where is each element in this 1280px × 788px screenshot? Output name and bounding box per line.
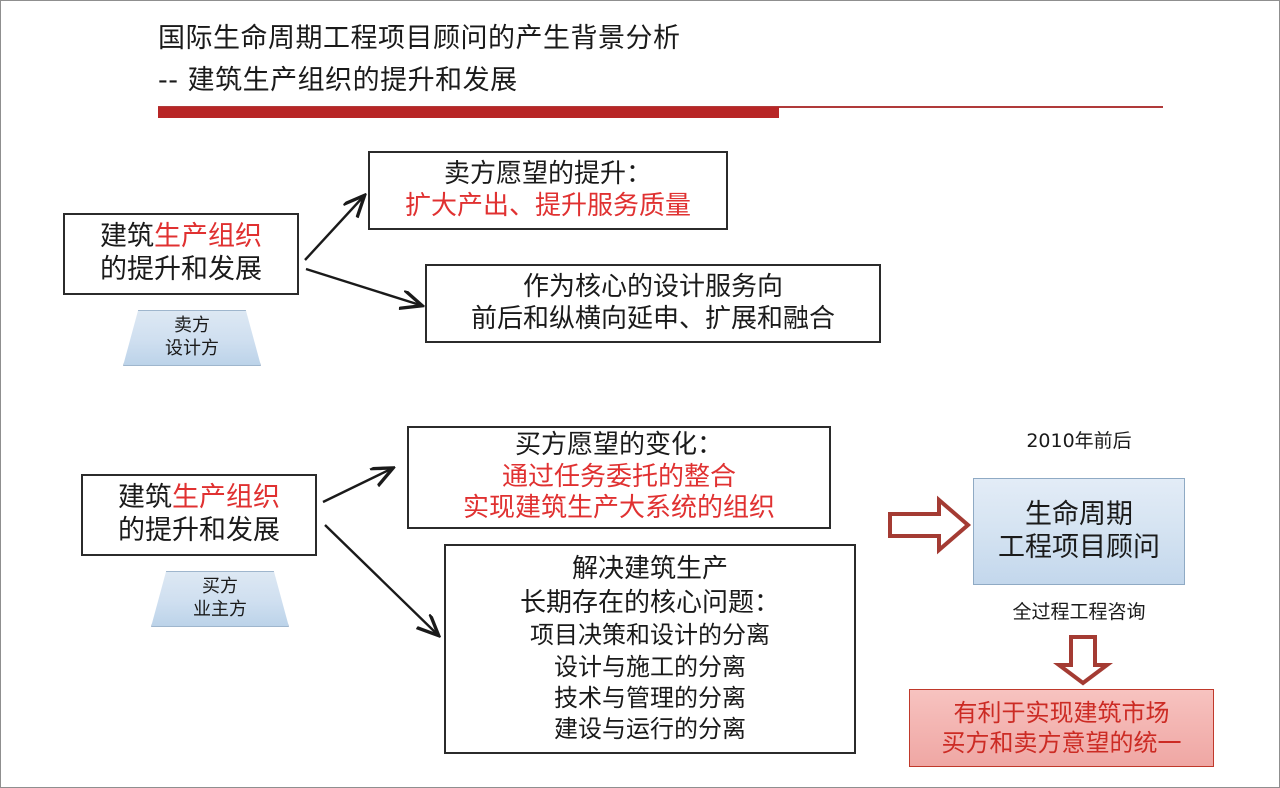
whole-process-consulting-caption: 全过程工程咨询 — [953, 597, 1205, 624]
seller-org-line2: 的提升和发展 — [100, 254, 262, 287]
arrow-buyer-to-wish — [323, 469, 391, 502]
conclusion-line1: 有利于实现建筑市场 — [954, 698, 1170, 728]
buyer-role-line1: 买方 — [202, 576, 238, 599]
seller-role-line2: 设计方 — [165, 338, 219, 361]
buyer-role-line2: 业主方 — [193, 599, 247, 622]
seller-role-line1: 卖方 — [174, 315, 210, 338]
title-rule-thick — [158, 107, 779, 118]
buyer-wish-box[interactable]: 买方愿望的变化： 通过任务委托的整合 实现建筑生产大系统的组织 — [407, 426, 831, 529]
seller-org-highlight: 生产组织 — [154, 221, 262, 252]
buyer-wish-line3: 实现建筑生产大系统的组织 — [463, 493, 775, 525]
core-problem-item-3: 建设与运行的分离 — [554, 714, 746, 745]
buyer-role-tag[interactable]: 买方 业主方 — [151, 571, 289, 627]
arrow-buyer-to-problem — [325, 525, 437, 634]
seller-role-tag[interactable]: 卖方 设计方 — [123, 310, 261, 366]
seller-wish-line2: 扩大产出、提升服务质量 — [405, 191, 691, 223]
buyer-wish-line1: 买方愿望的变化： — [515, 430, 723, 462]
core-design-line1: 作为核心的设计服务向 — [523, 272, 783, 304]
core-problem-item-1: 设计与施工的分离 — [554, 652, 746, 683]
lifecycle-line1: 生命周期 — [1025, 499, 1133, 532]
core-problem-item-2: 技术与管理的分离 — [554, 683, 746, 714]
seller-wish-line1: 卖方愿望的提升： — [444, 159, 652, 191]
buyer-org-line2: 的提升和发展 — [118, 515, 280, 548]
buyer-org-line1: 建筑生产组织 — [118, 482, 280, 515]
core-problem-line2: 长期存在的核心问题： — [520, 587, 780, 621]
core-problem-item-0: 项目决策和设计的分离 — [530, 620, 770, 651]
year-caption: 2010年前后 — [973, 426, 1185, 453]
buyer-wish-line2: 通过任务委托的整合 — [502, 462, 736, 494]
core-problem-box[interactable]: 解决建筑生产 长期存在的核心问题： 项目决策和设计的分离 设计与施工的分离 技术… — [444, 544, 856, 754]
arrow-seller-to-wish — [305, 197, 363, 260]
slide-canvas: 国际生命周期工程项目顾问的产生背景分析 -- 建筑生产组织的提升和发展 建筑生产… — [0, 0, 1280, 788]
lifecycle-consultant-box[interactable]: 生命周期 工程项目顾问 — [973, 478, 1185, 585]
buyer-organization-box[interactable]: 建筑生产组织 的提升和发展 — [81, 474, 317, 556]
buyer-org-prefix: 建筑 — [118, 482, 172, 513]
conclusion-box[interactable]: 有利于实现建筑市场 买方和卖方意望的统一 — [909, 689, 1214, 767]
core-design-line2: 前后和纵横向延申、扩展和融合 — [471, 304, 835, 336]
seller-organization-box[interactable]: 建筑生产组织 的提升和发展 — [63, 213, 299, 295]
arrow-seller-to-core-design — [306, 269, 420, 305]
page-title-line2: -- 建筑生产组织的提升和发展 — [158, 61, 518, 101]
seller-org-line1: 建筑生产组织 — [100, 221, 262, 254]
seller-org-prefix: 建筑 — [100, 221, 154, 252]
block-arrow-down-icon — [1059, 637, 1107, 683]
block-arrow-right-icon — [890, 500, 968, 550]
conclusion-line2: 买方和卖方意望的统一 — [942, 728, 1182, 758]
lifecycle-line2: 工程项目顾问 — [998, 532, 1160, 565]
core-design-service-box[interactable]: 作为核心的设计服务向 前后和纵横向延申、扩展和融合 — [425, 264, 881, 343]
seller-wish-box[interactable]: 卖方愿望的提升： 扩大产出、提升服务质量 — [368, 151, 728, 230]
buyer-org-highlight: 生产组织 — [172, 482, 280, 513]
page-title-line1: 国际生命周期工程项目顾问的产生背景分析 — [158, 19, 681, 59]
core-problem-line1: 解决建筑生产 — [572, 553, 728, 587]
